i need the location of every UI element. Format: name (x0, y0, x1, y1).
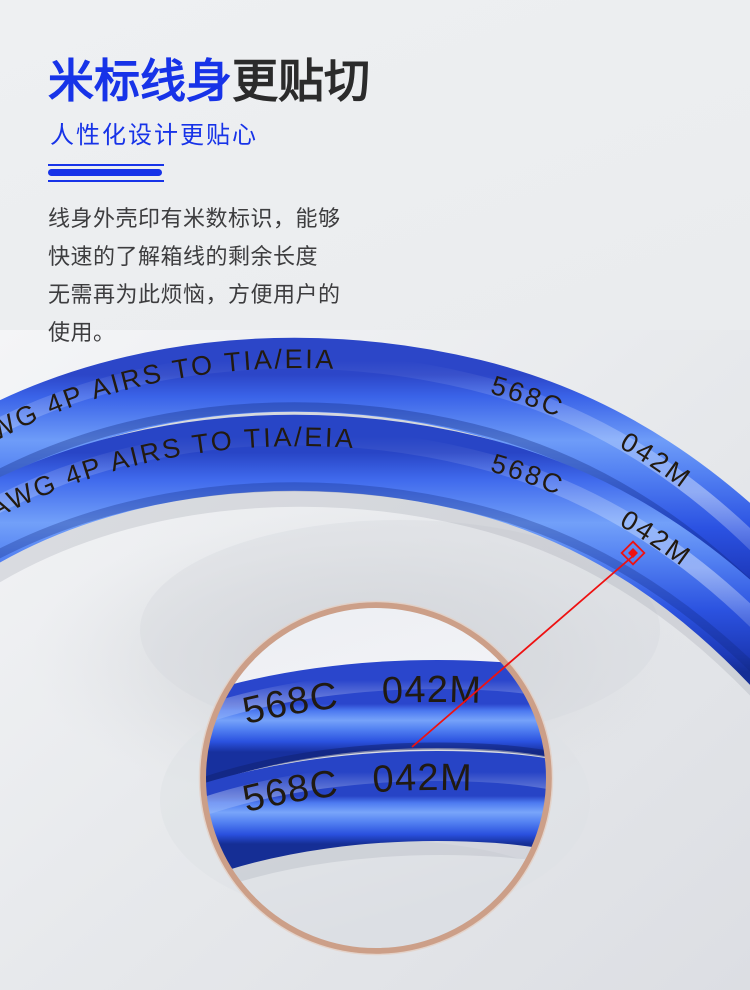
description-text: 线身外壳印有米数标识，能够 快速的了解箱线的剩余长度 无需再为此烦恼，方便用户的… (48, 200, 448, 352)
page-title: 米标线身更贴切 (48, 52, 518, 110)
magnifier-lower-meter: 042M (371, 757, 473, 801)
description-line: 快速的了解箱线的剩余长度 (48, 238, 448, 276)
title-divider (48, 164, 164, 182)
description-line: 使用。 (48, 314, 448, 352)
description-line: 无需再为此烦恼，方便用户的 (48, 276, 448, 314)
divider-line-bottom (48, 180, 164, 182)
divider-bar (48, 169, 162, 176)
page-title-blue: 米标线身 (48, 55, 232, 107)
svg-text:042M: 042M (381, 669, 483, 713)
intro-text-block: 米标线身更贴切 人性化设计更贴心 线身外壳印有米数标识，能够 快速的了解箱线的剩… (48, 52, 518, 352)
magnifier-callout: 568C 042M A 568C 042M (198, 600, 554, 956)
divider-line-top (48, 164, 164, 166)
magnifier-upper-meter: 042M (381, 669, 483, 713)
page-subtitle: 人性化设计更贴心 (50, 120, 518, 152)
page-title-dark: 更贴切 (232, 55, 370, 107)
description-line: 线身外壳印有米数标识，能够 (48, 200, 448, 238)
product-detail-page: 米标线身更贴切 人性化设计更贴心 线身外壳印有米数标识，能够 快速的了解箱线的剩… (0, 0, 750, 990)
svg-text:042M: 042M (371, 757, 473, 801)
